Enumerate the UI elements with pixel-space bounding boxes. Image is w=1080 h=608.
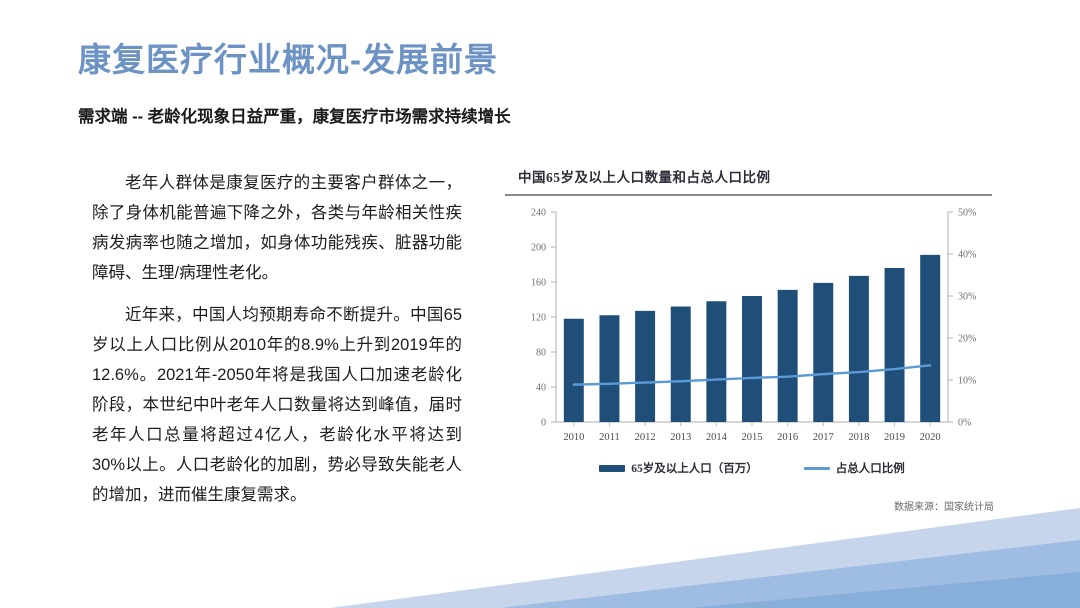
page-title: 康复医疗行业概况-发展前景: [78, 33, 498, 81]
y-ticklabel-left: 200: [531, 243, 546, 254]
y-ticklabel-left: 120: [531, 313, 546, 324]
body-paragraph-2: 近年来，中国人均预期寿命不断提升。中国65岁以上人口比例从2010年的8.9%上…: [92, 300, 462, 510]
y-ticklabel-left: 240: [531, 208, 546, 219]
y-ticklabel-left: 40: [536, 383, 546, 394]
y-ticklabel-right: 30%: [958, 292, 976, 303]
bar-2019: [885, 268, 905, 422]
body-text-column: 老年人群体是康复医疗的主要客户群体之一，除了身体机能普遍下降之外，各类与年龄相关…: [92, 168, 462, 510]
x-ticklabel-2015: 2015: [742, 432, 763, 443]
bar-2016: [778, 290, 798, 422]
x-ticklabel-2011: 2011: [599, 432, 620, 443]
legend-label-line: 占总人口比例: [836, 460, 905, 476]
decoration-band-mid: [500, 540, 1080, 608]
x-ticklabel-2020: 2020: [920, 432, 941, 443]
y-ticklabel-left: 80: [536, 348, 546, 359]
x-ticklabel-2019: 2019: [884, 432, 905, 443]
bar-2015: [742, 296, 762, 422]
y-ticklabel-left: 160: [531, 278, 546, 289]
bar-2018: [849, 276, 869, 422]
body-paragraph-1: 老年人群体是康复医疗的主要客户群体之一，除了身体机能普遍下降之外，各类与年龄相关…: [92, 168, 462, 288]
chart-source-note: 数据来源：国家统计局: [894, 498, 994, 513]
y-ticklabel-right: 50%: [958, 208, 976, 219]
chart-title: 中国65岁及以上人口数量和占总人口比例: [518, 166, 771, 186]
y-ticklabel-left: 0: [541, 418, 546, 429]
y-ticklabel-right: 10%: [958, 376, 976, 387]
legend-item-bars: 65岁及以上人口（百万）: [599, 460, 758, 476]
chart-legend: 65岁及以上人口（百万） 占总人口比例: [496, 460, 1008, 476]
y-ticklabel-right: 40%: [958, 250, 976, 261]
x-ticklabel-2012: 2012: [635, 432, 656, 443]
chart-plot-area: 040801201602002400%10%20%30%40%50%201020…: [496, 204, 1008, 464]
bar-2020: [920, 255, 940, 422]
bar-2013: [671, 307, 691, 423]
bar-2010: [564, 319, 584, 422]
y-ticklabel-right: 20%: [958, 334, 976, 345]
x-ticklabel-2018: 2018: [848, 432, 869, 443]
legend-label-bars: 65岁及以上人口（百万）: [631, 460, 758, 476]
y-ticklabel-right: 0%: [958, 418, 971, 429]
bar-2014: [706, 301, 726, 422]
chart-svg: 040801201602002400%10%20%30%40%50%201020…: [496, 204, 1008, 464]
decoration-band-dark: [690, 572, 1080, 608]
bar-2011: [599, 315, 619, 422]
legend-item-line: 占总人口比例: [804, 460, 905, 476]
bar-2012: [635, 311, 655, 422]
chart-title-divider: [505, 194, 992, 196]
legend-swatch-line: [804, 467, 830, 470]
page-subtitle: 需求端 -- 老龄化现象日益严重，康复医疗市场需求持续增长: [78, 103, 511, 127]
chart-card: 中国65岁及以上人口数量和占总人口比例 040801201602002400%1…: [496, 160, 1008, 530]
x-ticklabel-2016: 2016: [777, 432, 798, 443]
x-ticklabel-2013: 2013: [670, 432, 691, 443]
x-ticklabel-2014: 2014: [706, 432, 728, 443]
x-ticklabel-2017: 2017: [813, 432, 834, 443]
bar-2017: [813, 283, 833, 422]
slide-canvas: 康复医疗行业概况-发展前景 需求端 -- 老龄化现象日益严重，康复医疗市场需求持…: [0, 0, 1080, 608]
x-ticklabel-2010: 2010: [563, 432, 584, 443]
legend-swatch-bars: [599, 465, 625, 472]
